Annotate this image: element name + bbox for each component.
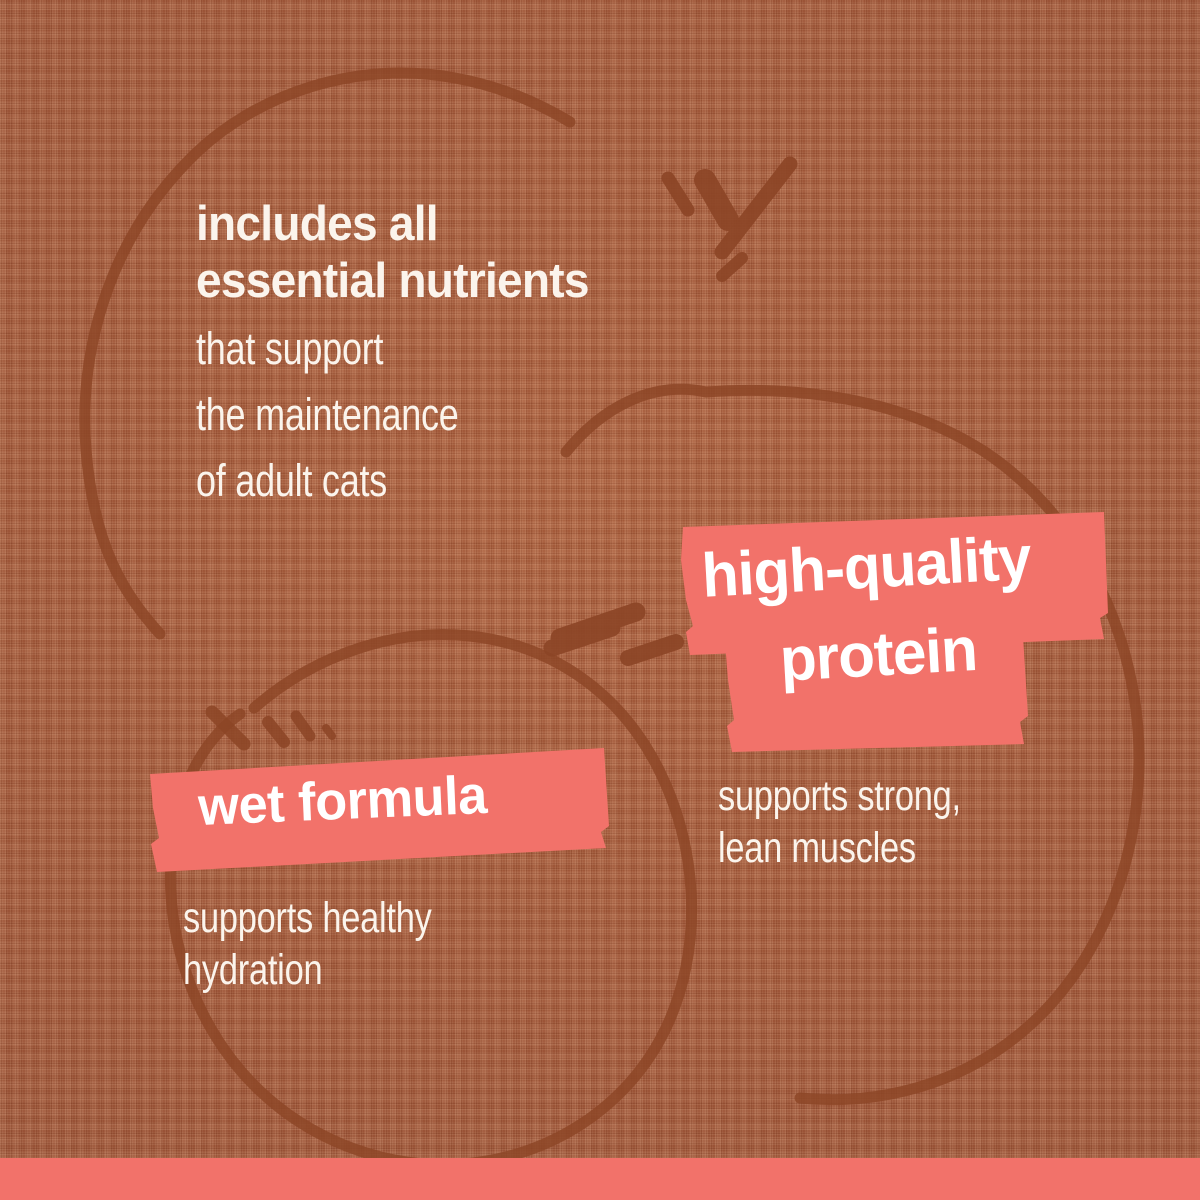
badge-label-protein: protein (778, 614, 979, 696)
wet-formula-caption-line-1: supports healthy (183, 892, 432, 944)
promo-graphic: includes all essential nutrients that su… (0, 0, 1200, 1200)
nutrients-strong-line-2: essential nutrients (196, 253, 589, 310)
protein-caption-block: supports strong, lean muscles (718, 770, 1022, 874)
scribble-cluster-top-right (668, 164, 790, 276)
protein-caption-line-2: lean muscles (718, 822, 961, 874)
badge-label-wet-formula: wet formula (197, 764, 488, 838)
nutrients-light-line-2: the maintenance (196, 388, 530, 442)
wet-formula-caption-line-2: hydration (183, 944, 432, 996)
protein-caption-line-1: supports strong, (718, 770, 961, 822)
nutrients-light-line-1: that support (196, 322, 530, 376)
wet-formula-caption-block: supports healthy hydration (183, 892, 494, 996)
decorative-layer (0, 0, 1200, 1200)
bottom-accent-bar (0, 1158, 1200, 1200)
scribble-cluster-middle (552, 612, 676, 658)
nutrients-text-block: includes all essential nutrients that su… (196, 196, 614, 508)
nutrients-strong-line-1: includes all (196, 196, 589, 253)
nutrients-light-line-3: of adult cats (196, 454, 530, 508)
